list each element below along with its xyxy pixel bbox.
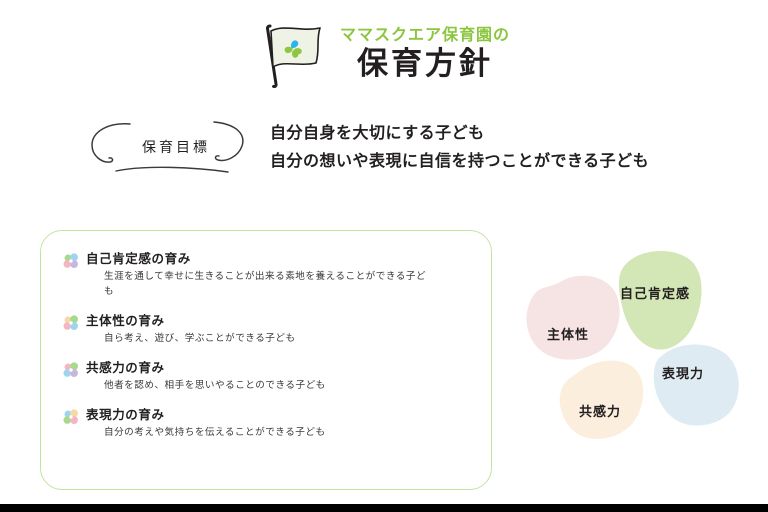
petal-label-hyougenryoku: 表現力	[662, 363, 704, 382]
petal-shape-kyoukanryoku	[560, 361, 644, 439]
list-item-title: 自己肯定感の育み	[86, 251, 434, 267]
list-item-description: 自分の考えや気持ちを伝えることができる子ども	[104, 426, 326, 441]
childcare-goal-section: 保育目標 自分自身を大切にする子ども 自分の想いや表現に自信を持つことができる子…	[86, 118, 649, 176]
list-item-title: 主体性の育み	[86, 313, 296, 329]
petal-label-jikokouteikan: 自己肯定感	[620, 283, 690, 302]
goal-text-block: 自分自身を大切にする子ども 自分の想いや表現に自信を持つことができる子ども	[270, 119, 649, 175]
clover-bullet-icon	[63, 362, 80, 379]
petal-label-shutaisei: 主体性	[547, 324, 589, 343]
page-subtitle: ママスクエア保育園の	[340, 26, 510, 44]
list-item-title: 共感力の育み	[86, 360, 326, 376]
list-item: 表現力の育み 自分の考えや気持ちを伝えることができる子ども	[63, 407, 473, 441]
petal-diagram: 自己肯定感 主体性 表現力 共感力	[516, 250, 762, 450]
list-item-description: 生涯を通して幸せに生きることが出来る素地を養えることができる子ども	[104, 270, 434, 300]
goal-label-badge: 保育目標	[86, 118, 266, 176]
list-item-title: 表現力の育み	[86, 407, 326, 423]
petal-shape-shutaisei	[527, 276, 620, 360]
petal-shape-hyougenryoku	[654, 344, 739, 425]
goal-label-text: 保育目標	[142, 137, 210, 157]
title-block: ママスクエア保育園の 保育方針	[340, 26, 510, 84]
clover-bullet-icon	[63, 315, 80, 332]
list-item: 自己肯定感の育み 生涯を通して幸せに生きることが出来る素地を養えることができる子…	[63, 251, 473, 300]
list-item-body: 共感力の育み 他者を認め、相手を思いやることのできる子ども	[86, 360, 326, 394]
header-inner: ママスクエア保育園の 保育方針	[258, 22, 510, 88]
list-item-description: 他者を認め、相手を思いやることのできる子ども	[104, 379, 326, 394]
page-header: ママスクエア保育園の 保育方針	[0, 22, 768, 88]
list-item-body: 表現力の育み 自分の考えや気持ちを伝えることができる子ども	[86, 407, 326, 441]
list-item-body: 自己肯定感の育み 生涯を通して幸せに生きることが出来る素地を養えることができる子…	[86, 251, 434, 300]
policy-card: 自己肯定感の育み 生涯を通して幸せに生きることが出来る素地を養えることができる子…	[40, 230, 492, 490]
clover-flag-icon	[258, 22, 330, 88]
goal-line-2: 自分の想いや表現に自信を持つことができる子ども	[270, 147, 649, 175]
bottom-bar	[0, 504, 768, 512]
page-title: 保育方針	[357, 45, 493, 84]
list-item-description: 自ら考え、遊び、学ぶことができる子ども	[104, 332, 296, 347]
clover-bullet-icon	[63, 253, 80, 270]
policy-list: 自己肯定感の育み 生涯を通して幸せに生きることが出来る素地を養えることができる子…	[41, 231, 491, 441]
list-item-body: 主体性の育み 自ら考え、遊び、学ぶことができる子ども	[86, 313, 296, 347]
clover-bullet-icon	[63, 409, 80, 426]
list-item: 主体性の育み 自ら考え、遊び、学ぶことができる子ども	[63, 313, 473, 347]
list-item: 共感力の育み 他者を認め、相手を思いやることのできる子ども	[63, 360, 473, 394]
petal-label-kyoukanryoku: 共感力	[579, 401, 621, 420]
goal-line-1: 自分自身を大切にする子ども	[270, 119, 649, 147]
